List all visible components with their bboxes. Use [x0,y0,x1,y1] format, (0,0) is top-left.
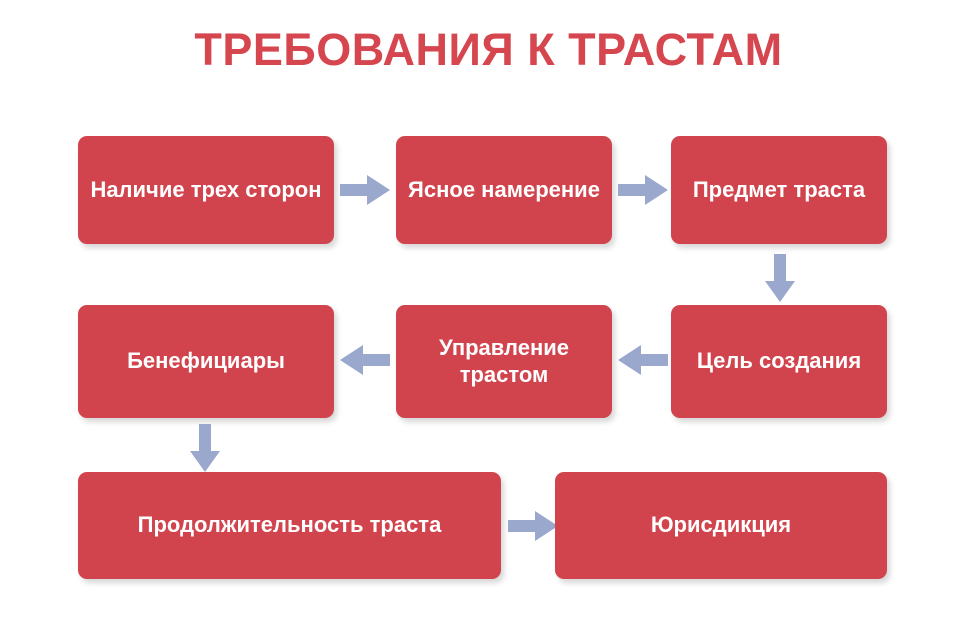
flow-box-label: Управление трастом [406,335,602,389]
flow-box-label: Наличие трех сторон [88,177,324,204]
arrow-right-icon-intent-to-subject [618,172,670,208]
flow-box-subject[interactable]: Предмет траста [671,136,887,244]
flow-box-management[interactable]: Управление трастом [396,305,612,418]
arrow-down-icon-beneficiary-to-duration [187,424,223,474]
flow-box-jurisdiction[interactable]: Юрисдикция [555,472,887,579]
arrow-left-icon-purpose-to-management [618,342,670,378]
flow-box-beneficiary[interactable]: Бенефициары [78,305,334,418]
flow-box-label: Продолжительность траста [88,512,491,539]
arrow-left-icon-management-to-beneficiary [340,342,392,378]
flow-box-label: Цель создания [681,348,877,375]
flow-box-label: Бенефициары [88,348,324,375]
flow-box-duration[interactable]: Продолжительность траста [78,472,501,579]
slide-canvas: ТРЕБОВАНИЯ К ТРАСТАМ Наличие трех сторон… [0,0,977,640]
flow-box-purpose[interactable]: Цель создания [671,305,887,418]
page-title: ТРЕБОВАНИЯ К ТРАСТАМ [0,24,977,76]
arrow-right-icon-duration-to-jurisdiction [508,508,560,544]
arrow-right-icon-parties-to-intent [340,172,392,208]
flow-box-label: Предмет траста [681,177,877,204]
flow-box-intent[interactable]: Ясное намерение [396,136,612,244]
flow-box-parties[interactable]: Наличие трех сторон [78,136,334,244]
flow-box-label: Юрисдикция [565,512,877,539]
arrow-down-icon-subject-to-purpose [762,254,798,304]
flow-box-label: Ясное намерение [406,177,602,204]
